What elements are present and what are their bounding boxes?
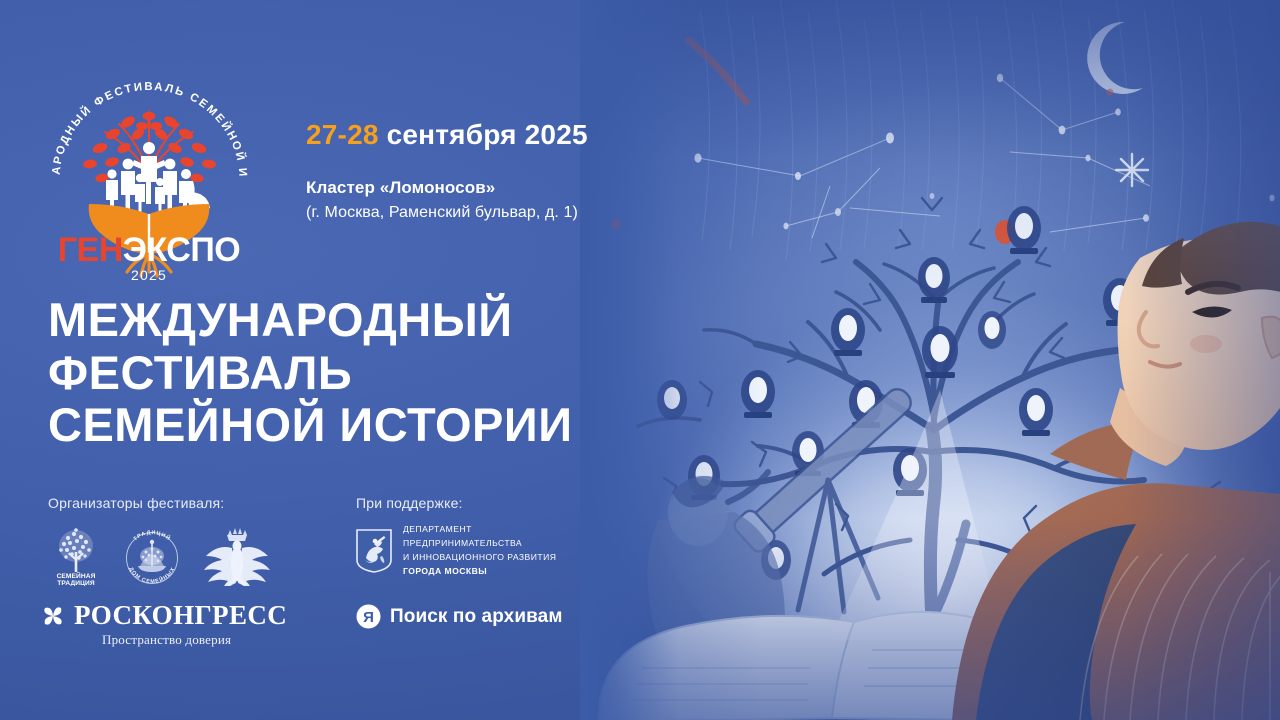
venue-address: (г. Москва, Раменский бульвар, д. 1)	[306, 201, 686, 224]
eagle-emblem-logo[interactable]	[200, 526, 274, 586]
venue-name: Кластер «Ломоносов»	[306, 176, 686, 201]
logo-wordmark-gen: ГЕН	[58, 231, 123, 269]
dep-line-2: ПРЕДПРИНИМАТЕЛЬСТВА	[403, 537, 556, 551]
roskongress-pinwheel-icon	[40, 603, 66, 629]
genexpo-logo-svg: МЕЖДУНАРОДНЫЙ ФЕСТИВАЛЬ СЕМЕЙНОЙ ИСТОРИИ	[42, 56, 257, 281]
headline-line-2: ФЕСТИВАЛЬ	[48, 347, 658, 400]
content-column: МЕЖДУНАРОДНЫЙ ФЕСТИВАЛЬ СЕМЕЙНОЙ ИСТОРИИ	[0, 0, 680, 720]
dep-line-4: ГОРОДА МОСКВЫ	[403, 565, 556, 579]
moscow-department-text: ДЕПАРТАМЕНТ ПРЕДПРИНИМАТЕЛЬСТВА И ИННОВА…	[403, 523, 556, 579]
svg-text:ГЕНЭКСПО: ГЕНЭКСПО	[58, 231, 240, 269]
dep-line-1: ДЕПАРТАМЕНТ	[403, 523, 556, 537]
dep-line-3: И ИННОВАЦИОННОГО РАЗВИТИЯ	[403, 551, 556, 565]
yandex-icon: Я	[356, 604, 381, 629]
roskongress-wordmark: РОСКОНГРЕСС	[74, 600, 287, 631]
semeynaya-traditsiya-line1: СЕМЕЙНАЯ	[57, 571, 96, 580]
event-date-days: 27-28	[306, 119, 379, 150]
support-section: При поддержке: ДЕПАРТАМЕНТ	[356, 495, 636, 579]
event-date: 27-28 сентября 2025	[306, 120, 666, 151]
illustration-svg	[580, 0, 1280, 720]
event-date-month: сентября 2025	[379, 119, 588, 150]
yandex-label: Поиск по архивам	[390, 606, 562, 628]
moscow-coat-of-arms-icon	[356, 529, 392, 573]
roskongress-logo[interactable]: РОСКОНГРЕСС Пространство доверия	[40, 600, 300, 648]
event-venue: Кластер «Ломоносов» (г. Москва, Раменски…	[306, 176, 686, 224]
logo-wordmark-expo: ЭКСПО	[123, 231, 240, 269]
organizers-caption: Организаторы фестиваля:	[48, 495, 338, 511]
yandex-mark: Я	[363, 609, 374, 626]
semeynaya-traditsiya-line2: ТРАДИЦИЯ	[57, 580, 95, 586]
headline-line-3: СЕМЕЙНОЙ ИСТОРИИ	[48, 399, 658, 452]
organizers-logo-row: СЕМЕЙНАЯ ТРАДИЦИЯ ТРАДИЦИЙ ДОМ СЕМЕЙНЫХ	[48, 524, 338, 586]
dom-semeynyh-traditsiy-logo[interactable]: ТРАДИЦИЙ ДОМ СЕМЕЙНЫХ	[122, 526, 182, 586]
yandex-archive-search-logo[interactable]: Я Поиск по архивам	[356, 604, 562, 629]
logo-year: 2025	[131, 267, 167, 281]
semeynaya-traditsiya-logo[interactable]: СЕМЕЙНАЯ ТРАДИЦИЯ	[48, 526, 104, 586]
support-caption: При поддержке:	[356, 495, 636, 511]
roskongress-tagline: Пространство доверия	[102, 632, 300, 648]
organizers-section: Организаторы фестиваля:	[48, 495, 338, 586]
genexpo-logo: МЕЖДУНАРОДНЫЙ ФЕСТИВАЛЬ СЕМЕЙНОЙ ИСТОРИИ	[42, 56, 257, 281]
headline-line-1: МЕЖДУНАРОДНЫЙ	[48, 294, 658, 347]
page-title: МЕЖДУНАРОДНЫЙ ФЕСТИВАЛЬ СЕМЕЙНОЙ ИСТОРИИ	[48, 294, 658, 452]
festival-poster: МЕЖДУНАРОДНЫЙ ФЕСТИВАЛЬ СЕМЕЙНОЙ ИСТОРИИ	[0, 0, 1280, 720]
illustration-artwork	[580, 0, 1280, 720]
star-burst-icon	[1116, 154, 1148, 186]
moscow-department-logo[interactable]: ДЕПАРТАМЕНТ ПРЕДПРИНИМАТЕЛЬСТВА И ИННОВА…	[356, 523, 636, 579]
